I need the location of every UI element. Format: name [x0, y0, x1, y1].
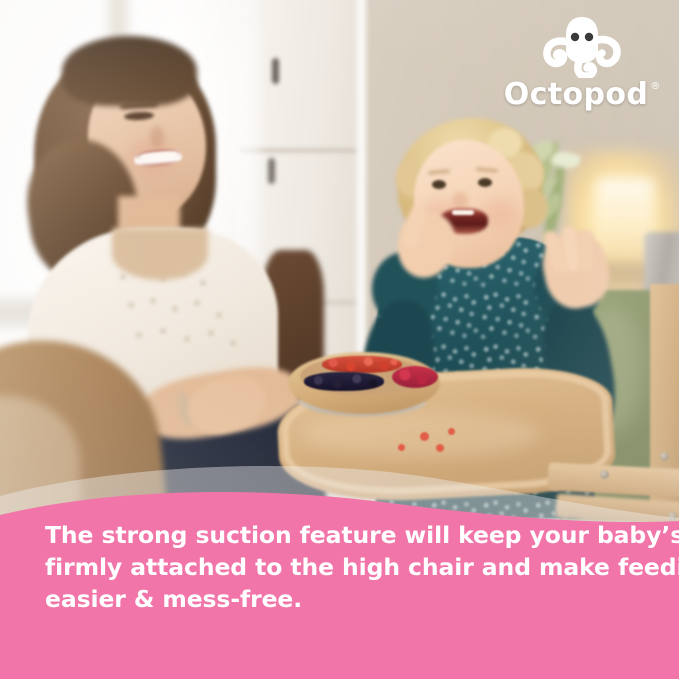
registered-trademark-icon: ® [650, 81, 660, 92]
promo-text: The strong suction feature will keep you… [45, 519, 645, 615]
brand-logo: Octopod ® [499, 12, 665, 110]
promo-banner: The strong suction feature will keep you… [0, 479, 679, 679]
product-lifestyle-card: Octopod ® The strong suction feature wil… [0, 0, 679, 679]
promo-line-3: easier & mess-free. [45, 583, 645, 615]
promo-line-1: The strong suction feature will keep you… [45, 519, 645, 551]
promo-line-2: firmly attached to the high chair and ma… [45, 551, 645, 583]
octopus-logo-icon [543, 12, 621, 78]
brand-name: Octopod [504, 80, 649, 110]
